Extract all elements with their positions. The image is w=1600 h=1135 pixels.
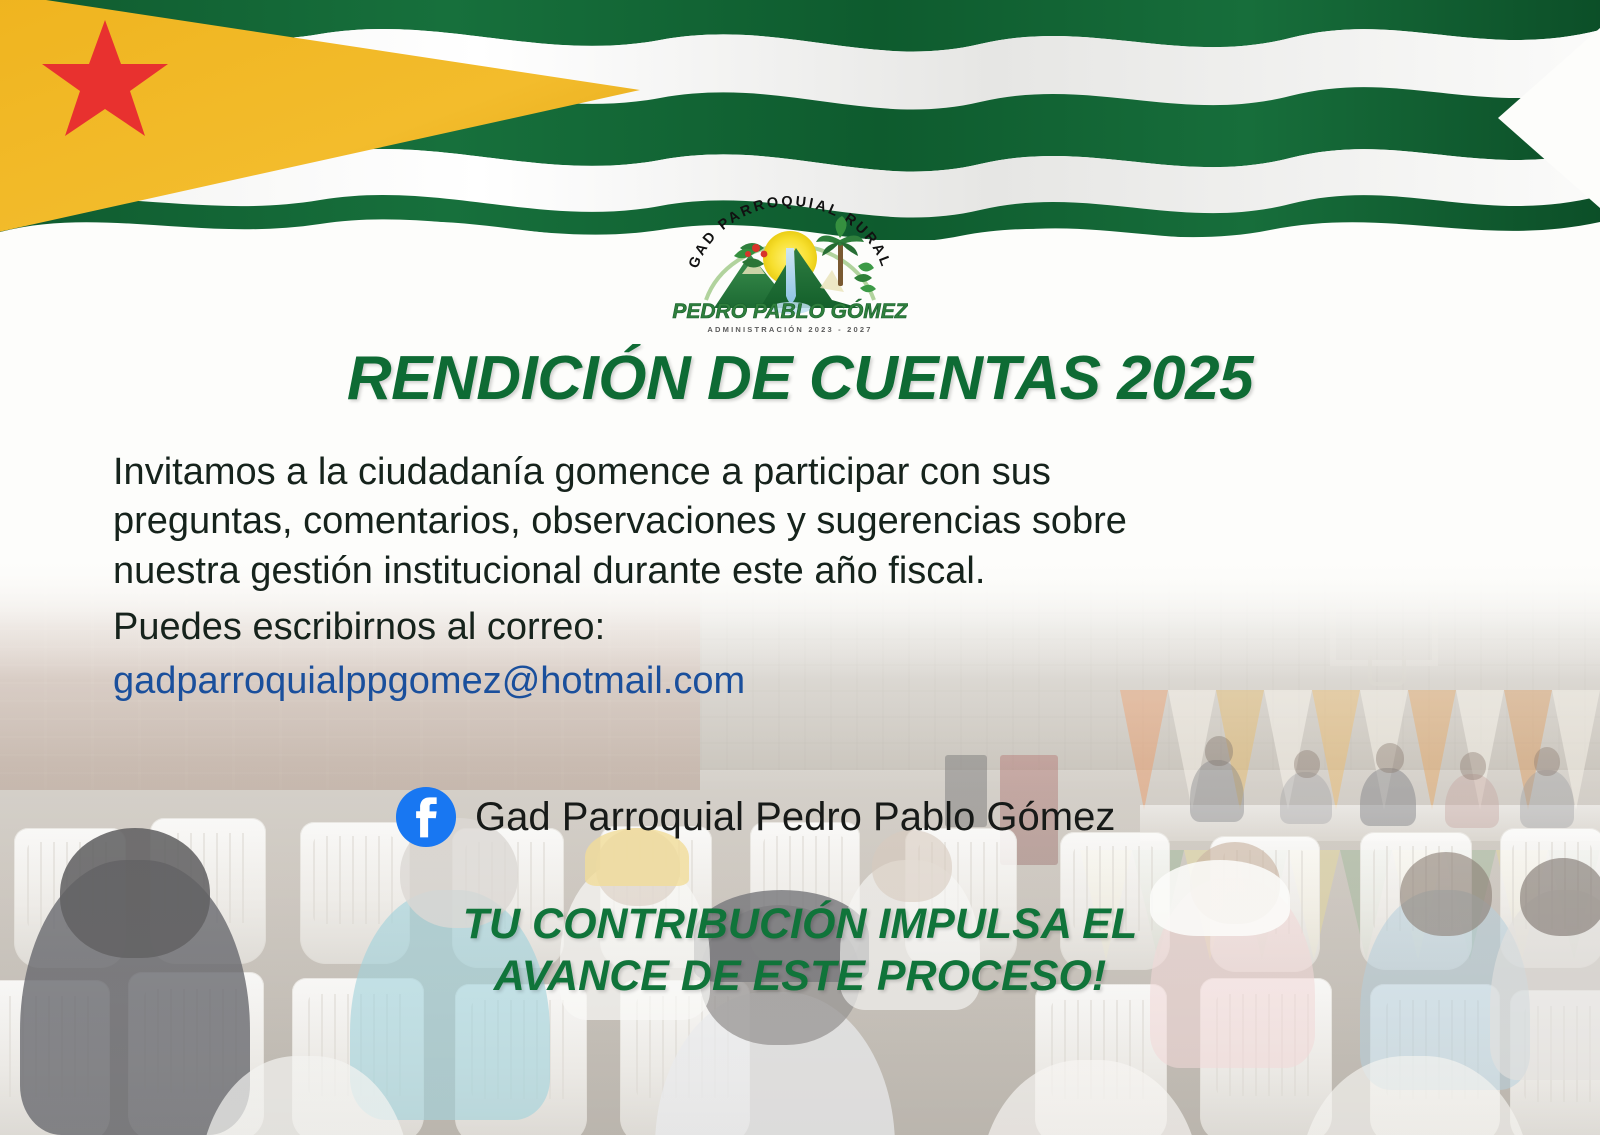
slogan-line-2: AVANCE DE ESTE PROCESO! (0, 950, 1600, 1002)
poster-canvas: GAD PARROQUIAL RURAL (0, 0, 1600, 1135)
coffee-plant-icon (734, 243, 767, 268)
invitation-line-2: preguntas, comentarios, observaciones y … (113, 497, 1458, 546)
email-label: Puedes escribirnos al correo: (113, 606, 605, 649)
logo-administration: ADMINISTRACIÓN 2023 - 2027 (707, 325, 872, 334)
invitation-line-1: Invitamos a la ciudadanía gomence a part… (113, 448, 1458, 497)
panel-figure (1280, 772, 1332, 824)
panel-figure-head (1460, 752, 1486, 780)
slogan-line-1: TU CONTRIBUCIÓN IMPULSA EL (0, 898, 1600, 950)
logo-svg: GAD PARROQUIAL RURAL (672, 196, 908, 338)
facebook-page-name: Gad Parroquial Pedro Pablo Gómez (475, 795, 1115, 840)
panel-figure-head (1205, 736, 1233, 766)
panel-figure (1360, 768, 1416, 826)
invitation-line-3: nuestra gestión institucional durante es… (113, 547, 1458, 596)
panel-figure (1190, 760, 1244, 822)
panel-figure-head (1294, 750, 1320, 778)
institution-logo: GAD PARROQUIAL RURAL (672, 196, 908, 338)
facebook-row[interactable]: Gad Parroquial Pedro Pablo Gómez (395, 786, 1115, 848)
slogan: TU CONTRIBUCIÓN IMPULSA EL AVANCE DE EST… (0, 898, 1600, 1003)
panel-figure (1520, 770, 1574, 828)
shrub-icon (854, 262, 876, 292)
panel-figure (1445, 774, 1499, 828)
email-address[interactable]: gadparroquialppgomez@hotmail.com (113, 660, 745, 703)
panel-figure-head (1376, 743, 1404, 773)
facebook-icon[interactable] (395, 786, 457, 848)
page-title: RENDICIÓN DE CUENTAS 2025 (0, 343, 1600, 414)
logo-name: PEDRO PABLO GÓMEZ (672, 299, 908, 323)
invitation-paragraph: Invitamos a la ciudadanía gomence a part… (113, 448, 1458, 596)
panel-figure-head (1534, 747, 1560, 776)
